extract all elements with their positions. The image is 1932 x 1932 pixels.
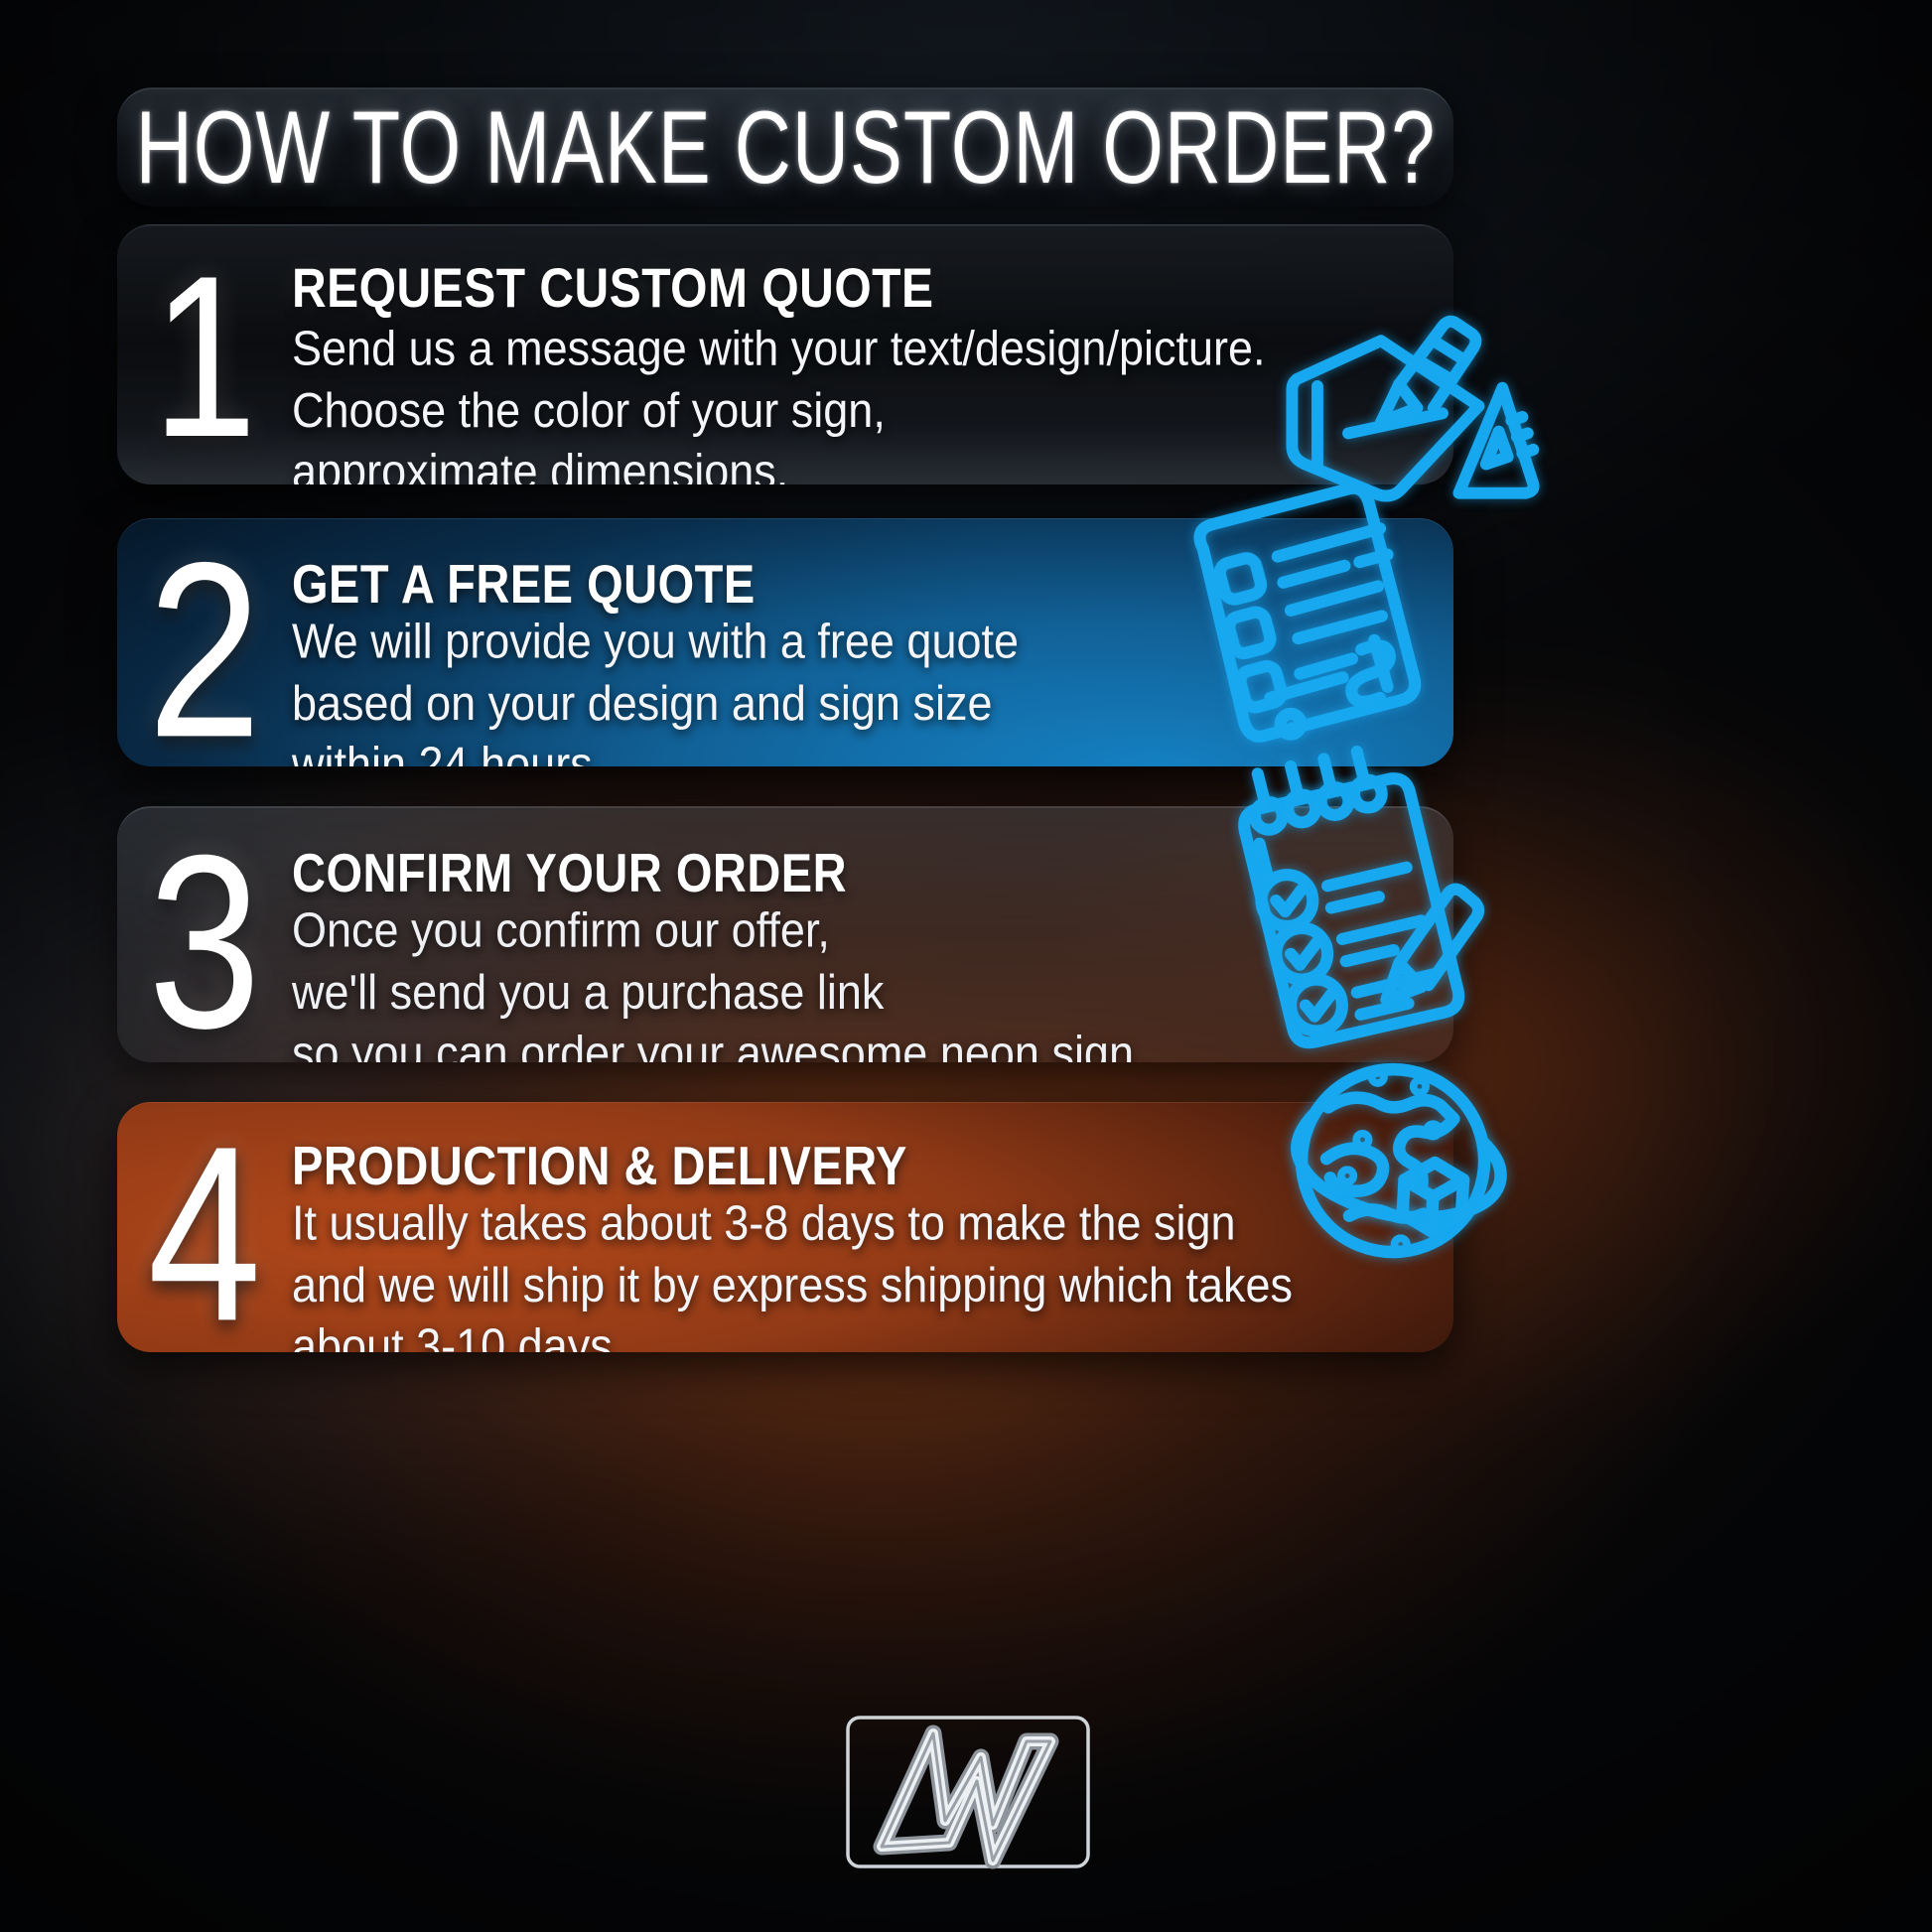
step-3-line-1: Once you confirm our offer, — [292, 899, 1430, 961]
step-1-line-2: Choose the color of your sign, — [292, 379, 1430, 441]
step-card-1: 1 REQUEST CUSTOM QUOTE Send us a message… — [117, 224, 1453, 484]
step-card-1-surface: 1 REQUEST CUSTOM QUOTE Send us a message… — [117, 224, 1453, 484]
step-title-3: CONFIRM YOUR ORDER — [292, 841, 1430, 904]
step-2-line-1: We will provide you with a free quote — [292, 611, 1430, 672]
step-number-4: 4 — [117, 1114, 292, 1352]
step-3-line-3: so you can order your awesome neon sign. — [292, 1024, 1430, 1062]
step-description-3: Once you confirm our offer, we'll send y… — [292, 899, 1430, 1062]
step-card-4: 4 PRODUCTION & DELIVERY It usually takes… — [117, 1102, 1453, 1352]
step-description-4: It usually takes about 3-8 days to make … — [292, 1192, 1430, 1352]
step-2-line-3: within 24 hours. — [292, 735, 1430, 766]
step-number-2: 2 — [117, 530, 292, 766]
header-banner: HOW TO MAKE CUSTOM ORDER? — [117, 87, 1453, 207]
step-card-2-surface: 2 GET A FREE QUOTE We will provide you w… — [117, 518, 1453, 766]
step-1-line-1: Send us a message with your text/design/… — [292, 318, 1430, 379]
brand-logo[interactable] — [842, 1698, 1094, 1886]
step-number-3: 3 — [117, 821, 292, 1060]
step-4-line-2: and we will ship it by express shipping … — [292, 1254, 1430, 1315]
step-card-3: 3 CONFIRM YOUR ORDER Once you confirm ou… — [117, 806, 1453, 1062]
page-title: HOW TO MAKE CUSTOM ORDER? — [135, 88, 1436, 207]
step-title-2: GET A FREE QUOTE — [292, 552, 1430, 616]
step-description-1: Send us a message with your text/design/… — [292, 318, 1430, 484]
step-4-line-3: about 3-10 days. — [292, 1316, 1430, 1352]
step-title-4: PRODUCTION & DELIVERY — [292, 1134, 1430, 1197]
step-description-2: We will provide you with a free quote ba… — [292, 611, 1430, 766]
step-card-2: 2 GET A FREE QUOTE We will provide you w… — [117, 518, 1453, 766]
step-card-3-surface: 3 CONFIRM YOUR ORDER Once you confirm ou… — [117, 806, 1453, 1062]
step-1-line-3: approximate dimensions. — [292, 442, 1430, 484]
step-title-1: REQUEST CUSTOM QUOTE — [292, 257, 1430, 321]
step-4-line-1: It usually takes about 3-8 days to make … — [292, 1192, 1430, 1254]
step-2-line-2: based on your design and sign size — [292, 672, 1430, 734]
infographic-canvas: HOW TO MAKE CUSTOM ORDER? 1 REQUEST CUST… — [0, 0, 1932, 1932]
step-3-line-2: we'll send you a purchase link — [292, 961, 1430, 1023]
step-number-1: 1 — [117, 243, 292, 467]
step-card-4-surface: 4 PRODUCTION & DELIVERY It usually takes… — [117, 1102, 1453, 1352]
